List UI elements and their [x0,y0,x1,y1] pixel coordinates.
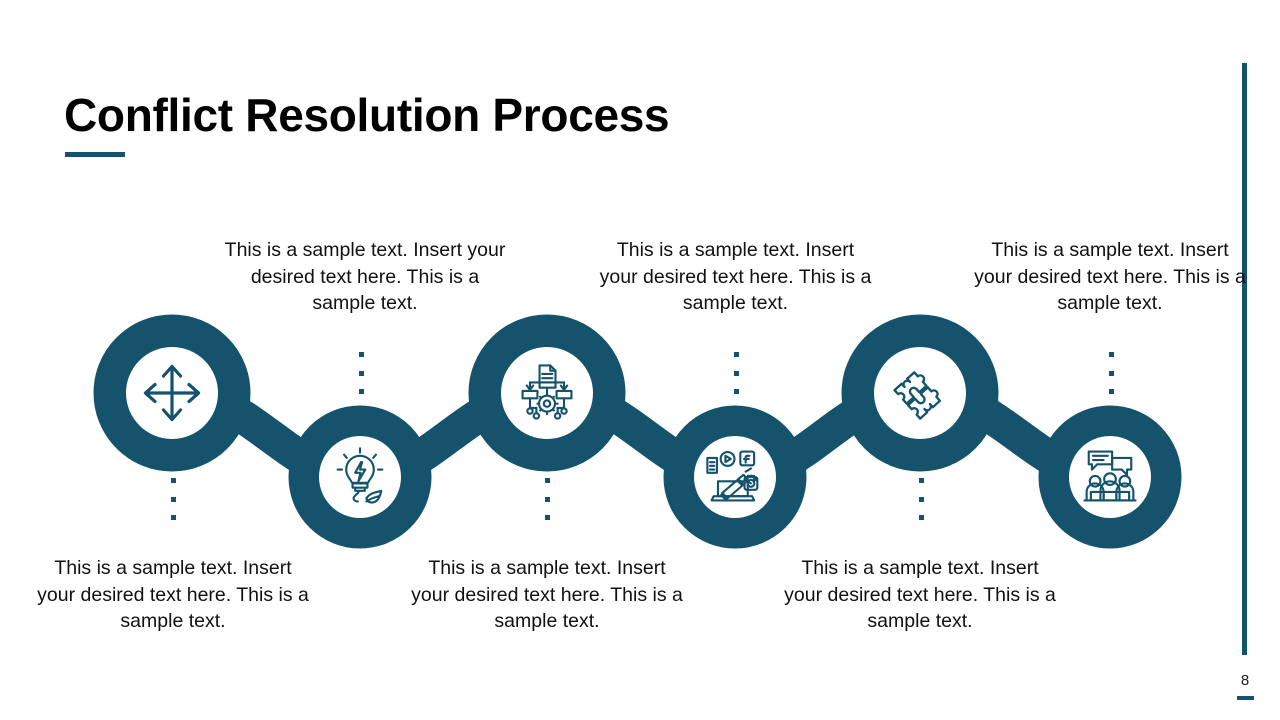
connector-dots-step-5 [918,478,924,520]
puzzle-pieces-icon [886,359,954,427]
step-5-caption: This is a sample text. Insert your desir… [781,555,1059,635]
connector-dots-step-3 [544,478,550,520]
step-2-caption: This is a sample text. Insert your desir… [224,237,506,317]
step-3-icon-document-workflow [513,359,581,427]
step-2-icon-lightbulb-leaf [326,443,394,511]
step-4-caption: This is a sample text. Insert your desir… [597,237,874,317]
lightbulb-leaf-energy-icon [326,443,394,511]
connector-dots-step-1 [170,478,176,520]
step-5-icon-puzzle-pieces [886,359,954,427]
digital-marketing-megaphone-icon [701,443,769,511]
step-6-caption: This is a sample text. Insert your desir… [971,237,1249,317]
connector-dots-step-2 [358,352,364,394]
step-6-icon-team-discussion [1076,443,1144,511]
step-1-caption: This is a sample text. Insert your desir… [36,555,310,635]
step-4-icon-digital-marketing [701,443,769,511]
slide-canvas: Conflict Resolution Process 8 [0,0,1280,720]
step-1-icon-move-arrows [138,359,206,427]
move-arrows-icon [138,359,206,427]
step-3-caption: This is a sample text. Insert your desir… [408,555,686,635]
connector-dots-step-6 [1108,352,1114,394]
connector-dots-step-4 [733,352,739,394]
team-discussion-icon [1076,443,1144,511]
document-workflow-gear-icon [513,359,581,427]
